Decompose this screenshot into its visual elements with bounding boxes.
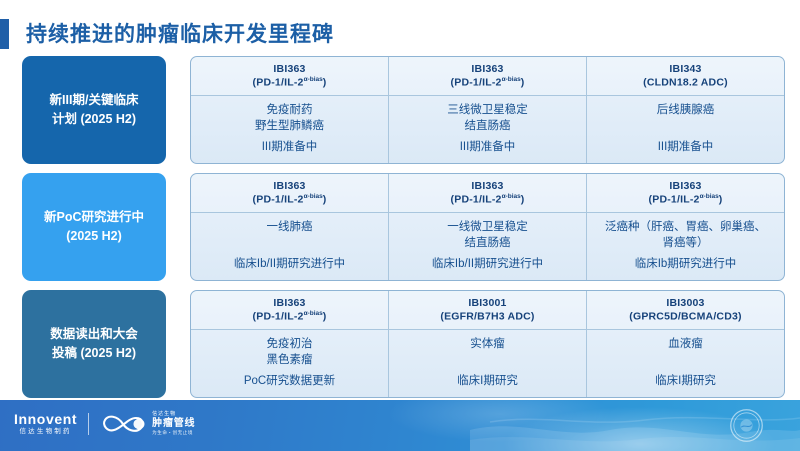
drug-target: (PD-1/IL-2α-bias) (649, 193, 723, 207)
milestone-row: 新III期/关键临床 计划 (2025 H2) IBI363 (PD-1/IL-… (0, 56, 800, 164)
infinity-ribbon-icon (100, 413, 146, 435)
status-text: 临床Ib/II期研究进行中 (432, 257, 543, 272)
program-cell[interactable]: IBI363 (PD-1/IL-2α-bias) 一线微卫星稳定结直肠癌 临床I… (389, 174, 587, 280)
program-header: IBI363 (PD-1/IL-2α-bias) (389, 57, 586, 96)
row-left-spacer (0, 173, 22, 281)
target-superscript: α-bias (502, 193, 521, 200)
drug-target: (PD-1/IL-2α-bias) (253, 310, 327, 324)
brand-name-cn: 信达生物制药 (19, 429, 71, 436)
program-header: IBI363 (PD-1/IL-2α-bias) (191, 57, 388, 96)
program-cell[interactable]: IBI363 (PD-1/IL-2α-bias) 三线微卫星稳定结直肠癌 III… (389, 57, 587, 163)
row-left-spacer (0, 56, 22, 164)
drug-name: IBI363 (471, 63, 503, 76)
program-cell[interactable]: IBI363 (PD-1/IL-2α-bias) 泛癌种（肝癌、胃癌、卵巢癌、肾… (587, 174, 784, 280)
target-superscript: α-bias (304, 76, 323, 83)
drug-target: (EGFR/B7H3 ADC) (440, 310, 534, 324)
status-text: 临床Ib/II期研究进行中 (234, 257, 345, 272)
pipeline-brand-text: 信达生物 肿瘤管线 为生命・创无止境 (152, 412, 195, 436)
drug-name: IBI3003 (666, 297, 704, 310)
target-superscript: α-bias (700, 193, 719, 200)
status-text: III期准备中 (262, 140, 318, 155)
page-title: 持续推进的肿瘤临床开发里程碑 (26, 24, 334, 45)
program-cell[interactable]: IBI3001 (EGFR/B7H3 ADC) 实体瘤 临床I期研究 (389, 291, 587, 397)
milestone-card: IBI363 (PD-1/IL-2α-bias) 免疫初治黑色素瘤 PoC研究数… (190, 290, 785, 398)
program-header: IBI3003 (GPRC5D/BCMA/CD3) (587, 291, 784, 330)
slide-root: 持续推进的肿瘤临床开发里程碑 新III期/关键临床 计划 (2025 H2) I… (0, 0, 800, 451)
row-label-line2: (2025 H2) (66, 227, 122, 246)
milestone-rows: 新III期/关键临床 计划 (2025 H2) IBI363 (PD-1/IL-… (0, 56, 800, 407)
program-body: 一线肺癌 临床Ib/II期研究进行中 (191, 213, 388, 280)
program-body: 后线胰腺癌 III期准备中 (587, 96, 784, 163)
row-label-phase3[interactable]: 新III期/关键临床 计划 (2025 H2) (22, 56, 166, 164)
program-cell[interactable]: IBI343 (CLDN18.2 ADC) 后线胰腺癌 III期准备中 (587, 57, 784, 163)
indication-text: 三线微卫星稳定结直肠癌 (447, 103, 528, 135)
program-body: 实体瘤 临床I期研究 (389, 330, 586, 397)
drug-name: IBI363 (273, 297, 305, 310)
row-label-poc[interactable]: 新PoC研究进行中 (2025 H2) (22, 173, 166, 281)
drug-target: (PD-1/IL-2α-bias) (451, 76, 525, 90)
milestone-row: 新PoC研究进行中 (2025 H2) IBI363 (PD-1/IL-2α-b… (0, 173, 800, 281)
drug-target: (GPRC5D/BCMA/CD3) (629, 310, 742, 324)
drug-target: (PD-1/IL-2α-bias) (253, 193, 327, 207)
innovent-logo: Innovent 信达生物制药 (14, 412, 77, 436)
program-header: IBI363 (PD-1/IL-2α-bias) (389, 174, 586, 213)
indication-text: 泛癌种（肝癌、胃癌、卵巢癌、肾癌等） (605, 220, 766, 252)
row-gap (166, 290, 190, 398)
row-label-data-readout[interactable]: 数据读出和大会 投稿 (2025 H2) (22, 290, 166, 398)
indication-text: 免疫初治黑色素瘤 (267, 337, 313, 369)
program-cell[interactable]: IBI363 (PD-1/IL-2α-bias) 免疫初治黑色素瘤 PoC研究数… (191, 291, 389, 397)
status-text: III期准备中 (460, 140, 516, 155)
indication-text: 一线微卫星稳定结直肠癌 (447, 220, 528, 252)
row-label-line1: 新III期/关键临床 (50, 91, 139, 110)
drug-name: IBI363 (669, 180, 701, 193)
target-superscript: α-bias (304, 310, 323, 317)
title-accent-bar (0, 19, 9, 49)
program-body: 一线微卫星稳定结直肠癌 临床Ib/II期研究进行中 (389, 213, 586, 280)
indication-text: 实体瘤 (470, 337, 505, 353)
row-gap (166, 173, 190, 281)
row-left-spacer (0, 290, 22, 398)
pipeline-brand-mid: 肿瘤管线 (152, 419, 195, 429)
infinity-icon (100, 413, 146, 435)
pipeline-brand-top: 信达生物 (152, 412, 195, 417)
drug-name: IBI363 (273, 180, 305, 193)
program-body: 泛癌种（肝癌、胃癌、卵巢癌、肾癌等） 临床Ib期研究进行中 (587, 213, 784, 280)
milestone-row: 数据读出和大会 投稿 (2025 H2) IBI363 (PD-1/IL-2α-… (0, 290, 800, 398)
status-text: 临床I期研究 (457, 374, 518, 389)
target-superscript: α-bias (502, 76, 521, 83)
brand-divider (88, 413, 89, 435)
program-header: IBI363 (PD-1/IL-2α-bias) (587, 174, 784, 213)
milestone-card: IBI363 (PD-1/IL-2α-bias) 免疫耐药野生型肺鳞癌 III期… (190, 56, 785, 164)
program-header: IBI3001 (EGFR/B7H3 ADC) (389, 291, 586, 330)
row-label-line1: 数据读出和大会 (50, 325, 138, 344)
watermark-seal-icon (729, 408, 764, 443)
program-body: 免疫初治黑色素瘤 PoC研究数据更新 (191, 330, 388, 397)
slide-footer: Innovent 信达生物制药 信达生物 肿瘤管线 为生命・创无止境 (0, 400, 800, 451)
indication-text: 一线肺癌 (267, 220, 313, 236)
program-header: IBI363 (PD-1/IL-2α-bias) (191, 291, 388, 330)
program-body: 三线微卫星稳定结直肠癌 III期准备中 (389, 96, 586, 163)
indication-text: 免疫耐药野生型肺鳞癌 (255, 103, 324, 135)
pipeline-brand-bottom: 为生命・创无止境 (152, 431, 195, 436)
drug-target: (PD-1/IL-2α-bias) (253, 76, 327, 90)
drug-name: IBI3001 (468, 297, 506, 310)
drug-name: IBI343 (669, 63, 701, 76)
program-body: 血液瘤 临床I期研究 (587, 330, 784, 397)
status-text: III期准备中 (658, 140, 714, 155)
row-gap (166, 56, 190, 164)
program-cell[interactable]: IBI3003 (GPRC5D/BCMA/CD3) 血液瘤 临床I期研究 (587, 291, 784, 397)
drug-target: (CLDN18.2 ADC) (643, 76, 728, 90)
indication-text: 血液瘤 (668, 337, 703, 353)
indication-text: 后线胰腺癌 (657, 103, 715, 119)
target-superscript: α-bias (304, 193, 323, 200)
slide-header: 持续推进的肿瘤临床开发里程碑 (0, 18, 334, 50)
status-text: PoC研究数据更新 (244, 374, 335, 389)
program-cell[interactable]: IBI363 (PD-1/IL-2α-bias) 一线肺癌 临床Ib/II期研究… (191, 174, 389, 280)
program-cell[interactable]: IBI363 (PD-1/IL-2α-bias) 免疫耐药野生型肺鳞癌 III期… (191, 57, 389, 163)
brand-name-en: Innovent (14, 412, 77, 426)
program-header: IBI343 (CLDN18.2 ADC) (587, 57, 784, 96)
status-text: 临床Ib期研究进行中 (635, 257, 737, 272)
drug-name: IBI363 (273, 63, 305, 76)
program-body: 免疫耐药野生型肺鳞癌 III期准备中 (191, 96, 388, 163)
brand-lockup: Innovent 信达生物制药 信达生物 肿瘤管线 为生命・创无止境 (14, 412, 195, 436)
program-header: IBI363 (PD-1/IL-2α-bias) (191, 174, 388, 213)
drug-name: IBI363 (471, 180, 503, 193)
status-text: 临床I期研究 (655, 374, 716, 389)
row-label-line2: 计划 (2025 H2) (52, 110, 136, 129)
milestone-card: IBI363 (PD-1/IL-2α-bias) 一线肺癌 临床Ib/II期研究… (190, 173, 785, 281)
row-label-line1: 新PoC研究进行中 (44, 208, 144, 227)
row-label-line2: 投稿 (2025 H2) (52, 344, 136, 363)
drug-target: (PD-1/IL-2α-bias) (451, 193, 525, 207)
